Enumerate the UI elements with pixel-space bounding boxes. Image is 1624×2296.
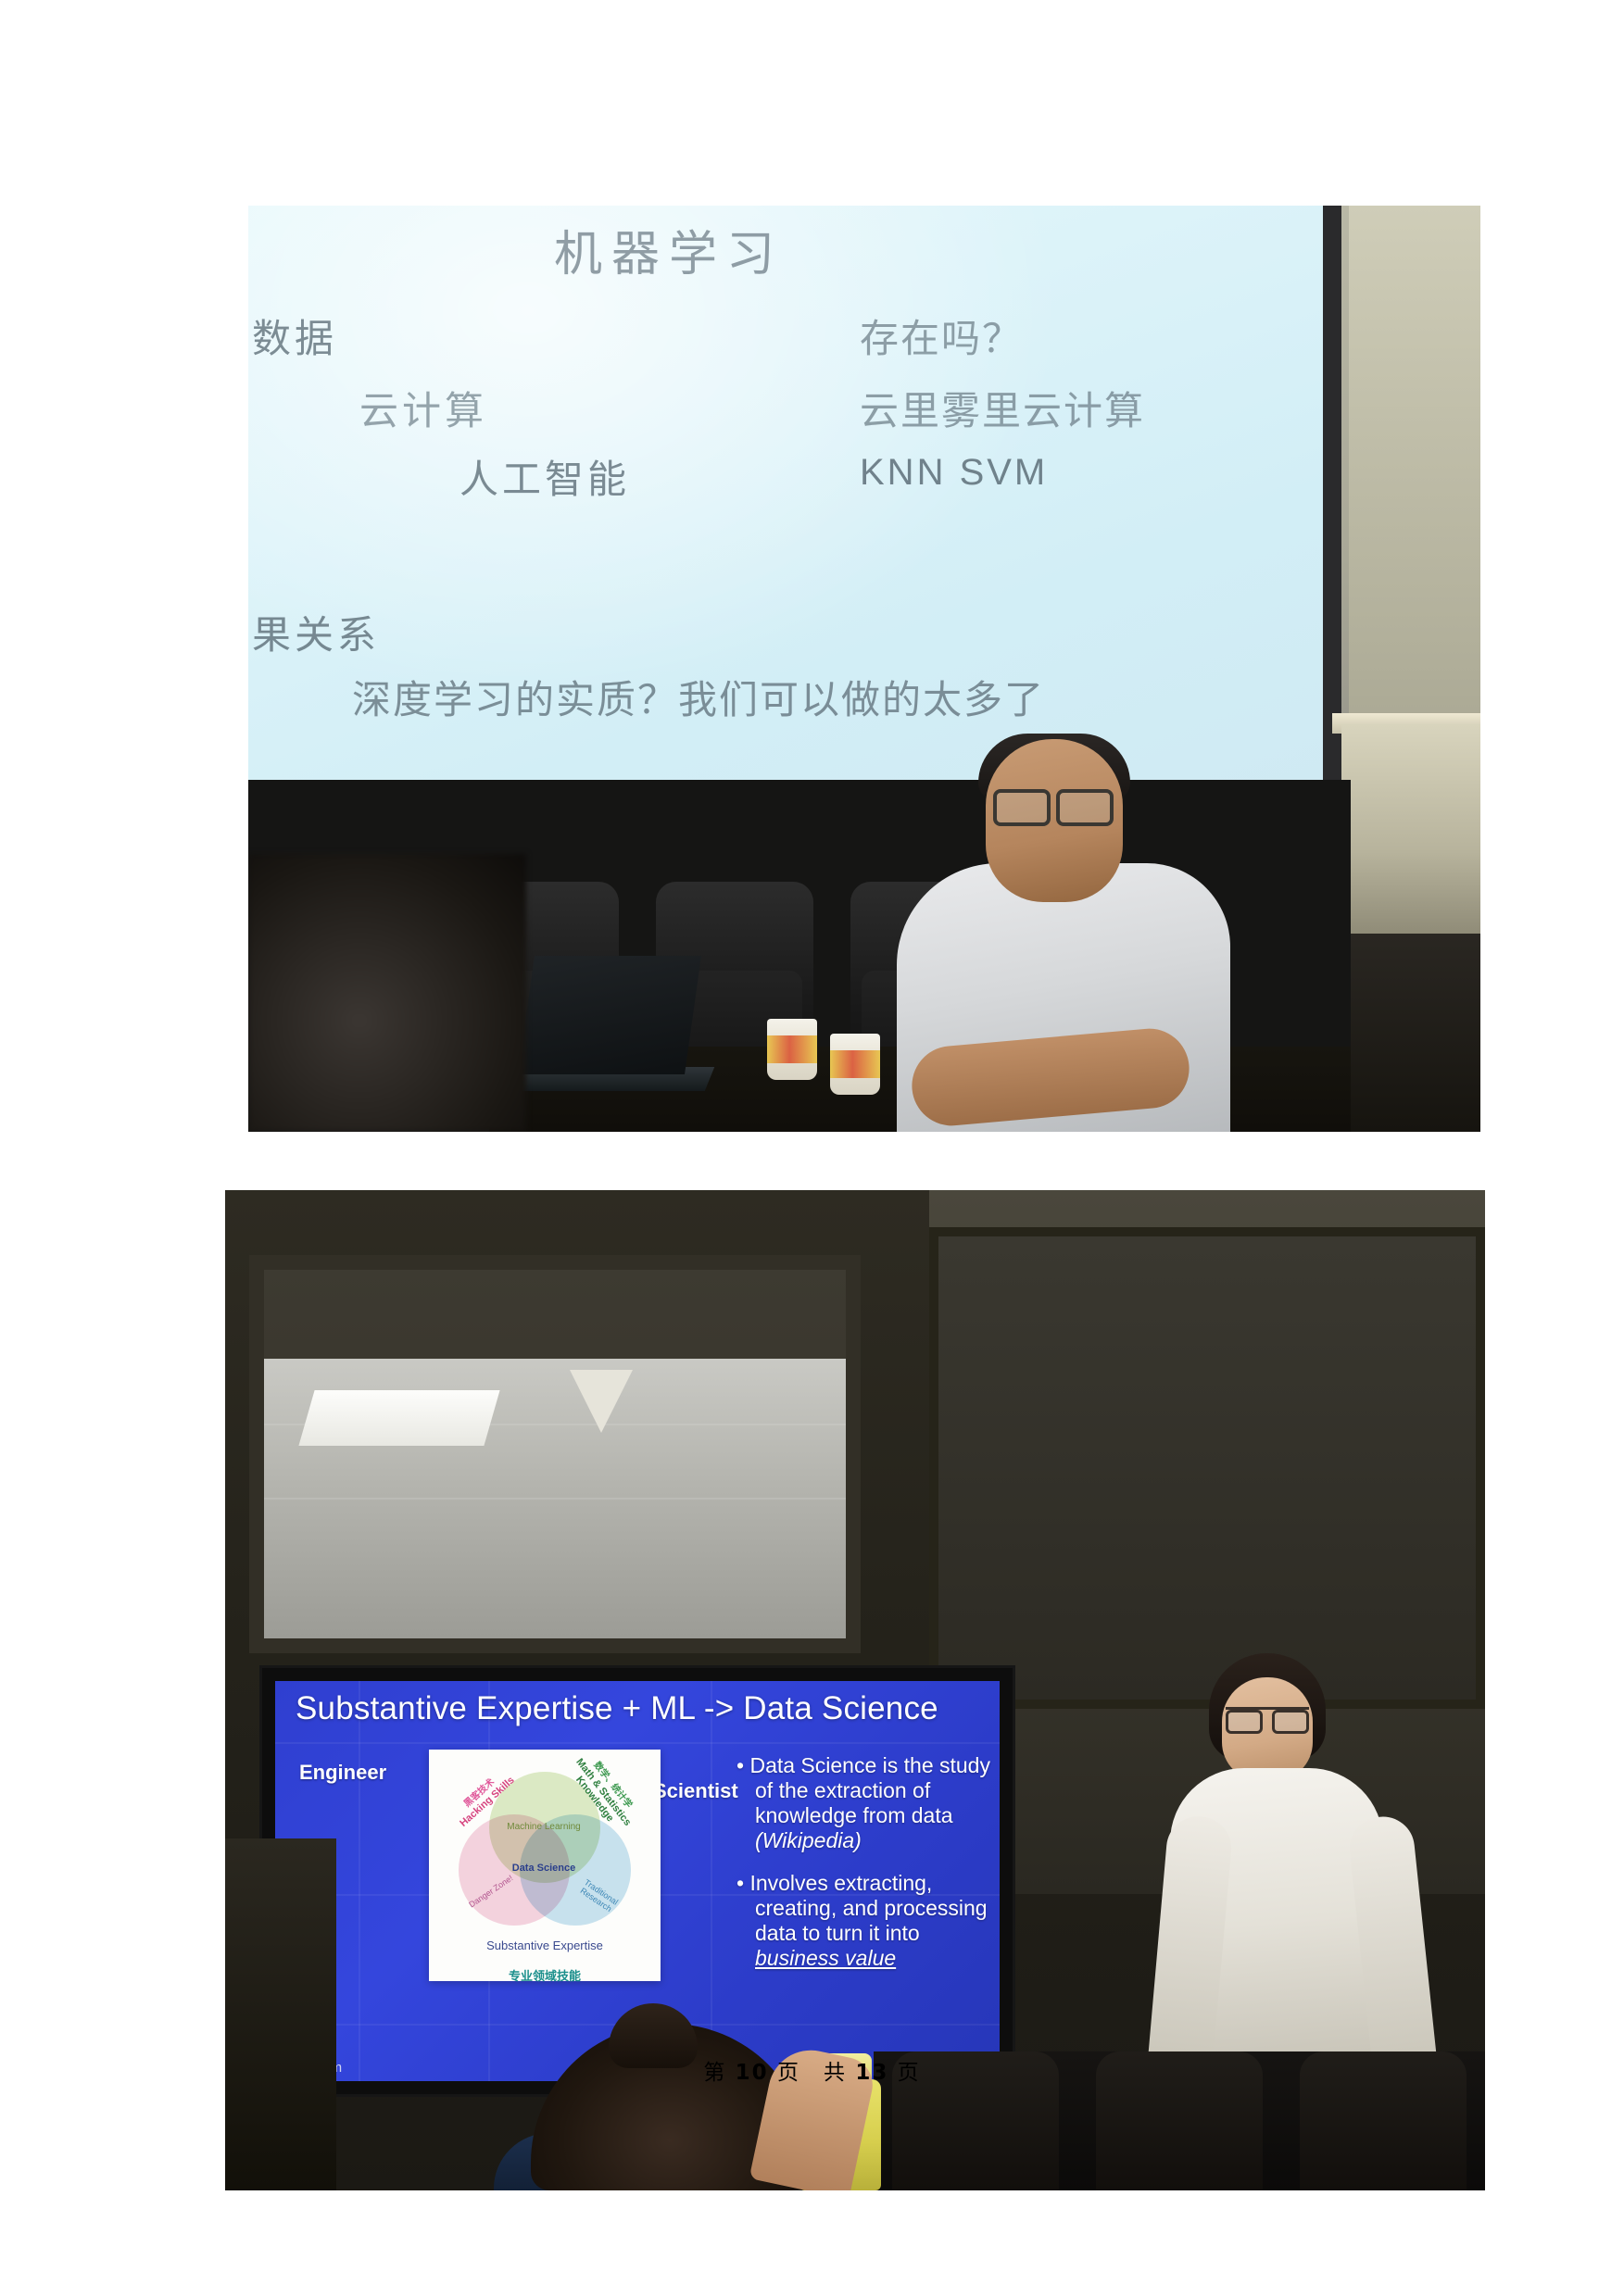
slide1-bottom-left: 果关系 <box>252 604 380 660</box>
wall-panel <box>929 1227 1485 1709</box>
footer-suffix: 页 <box>898 2061 921 2085</box>
slide2-scientist-label: Scientist <box>653 1779 738 1803</box>
venn-label-machine-learning: Machine Learning <box>496 1822 592 1833</box>
slide2-bullet-1-lead: Involves extracting, creating, and proce… <box>749 1871 987 1945</box>
slide2-bullet-1: • Involves extracting, creating, and pro… <box>736 1871 1000 1972</box>
eyeglasses-right-lens <box>1056 789 1114 826</box>
ceiling-grid-line <box>264 1498 846 1499</box>
cup-band <box>767 1035 817 1063</box>
venn-label-substantive-en: Substantive Expertise <box>429 1938 661 1952</box>
document-page: 机器学习 数据 云计算 人工智能 存在吗？ 云里雾里云计算 KNN SVM 果关… <box>0 0 1624 2296</box>
slide2-bullet-0-lead: Data Science is the study of the extract… <box>749 1753 990 1827</box>
foreground-dark-left <box>225 1838 336 2190</box>
bullet-marker: • <box>736 1753 749 1777</box>
slide1-left-item-2: 人工智能 <box>460 448 630 505</box>
photo-lecturer-with-projector: 机器学习 数据 云计算 人工智能 存在吗？ 云里雾里云计算 KNN SVM 果关… <box>248 206 1480 1132</box>
slide1-title: 机器学习 <box>554 215 784 284</box>
venn-diagram: 黑客技术 Hacking Skills 数学、统计学 Math & Statis… <box>444 1759 646 1939</box>
slide1-bottom-line: 深度学习的实质？我们可以做的太多了 <box>352 669 1045 725</box>
cup-band <box>830 1050 880 1078</box>
slide-grid-line <box>275 1742 1000 1744</box>
footer-mid: 页 共 <box>777 2061 847 2085</box>
slide1-right-item-0: 存在吗？ <box>860 307 1023 364</box>
lecturer <box>897 724 1230 1132</box>
slide2-bullet-0: • Data Science is the study of the extra… <box>736 1753 1000 1854</box>
slide2-bullet-0-italic: (Wikipedia) <box>755 1828 862 1852</box>
eyeglasses-left-lens <box>993 789 1051 826</box>
audience-member-foreground <box>531 2024 846 2190</box>
photo-presenter-with-display: Substantive Expertise + ML -> Data Scien… <box>225 1190 1485 2190</box>
bullet-marker: • <box>736 1871 749 1895</box>
slide2-title: Substantive Expertise + ML -> Data Scien… <box>296 1690 938 1727</box>
projector-screen: 机器学习 数据 云计算 人工智能 存在吗？ 云里雾里云计算 KNN SVM 果关… <box>248 206 1323 787</box>
slide2-bullet-1-italic: business value <box>755 1946 896 1970</box>
slide2-engineer-label: Engineer <box>299 1761 386 1785</box>
paper-cup <box>767 1019 817 1080</box>
ceiling-light <box>298 1390 499 1446</box>
laptop <box>518 956 701 1074</box>
paper-cup <box>830 1034 880 1095</box>
slide-grid-line <box>359 1681 360 2081</box>
slide1-left-item-0: 数据 <box>252 307 337 364</box>
slide1-right-item-2: KNN SVM <box>860 452 1048 494</box>
presenter-eyeglasses <box>1226 1707 1309 1730</box>
slide2-bullet-list: • Data Science is the study of the extra… <box>736 1753 1000 1988</box>
page-footer: 第 10 页 共 13 页 <box>0 2054 1624 2086</box>
slide1-left-item-1: 云计算 <box>359 380 487 436</box>
dark-area-right <box>1341 934 1480 1132</box>
podium <box>1341 724 1480 937</box>
footer-total-pages: 13 <box>855 2061 888 2085</box>
foreground-blur <box>248 854 526 1132</box>
ceiling-speaker-cone <box>570 1370 633 1433</box>
slide1-right-item-1: 云里雾里云计算 <box>860 380 1145 436</box>
footer-page-number: 10 <box>736 2061 769 2085</box>
venn-label-substantive-cn: 专业领域技能 <box>429 1966 661 1984</box>
slide-grid-line <box>711 1681 712 2081</box>
footer-prefix: 第 <box>703 2061 726 2085</box>
interior-window <box>249 1255 861 1653</box>
venn-diagram-card: 黑客技术 Hacking Skills 数学、统计学 Math & Statis… <box>429 1750 661 1981</box>
